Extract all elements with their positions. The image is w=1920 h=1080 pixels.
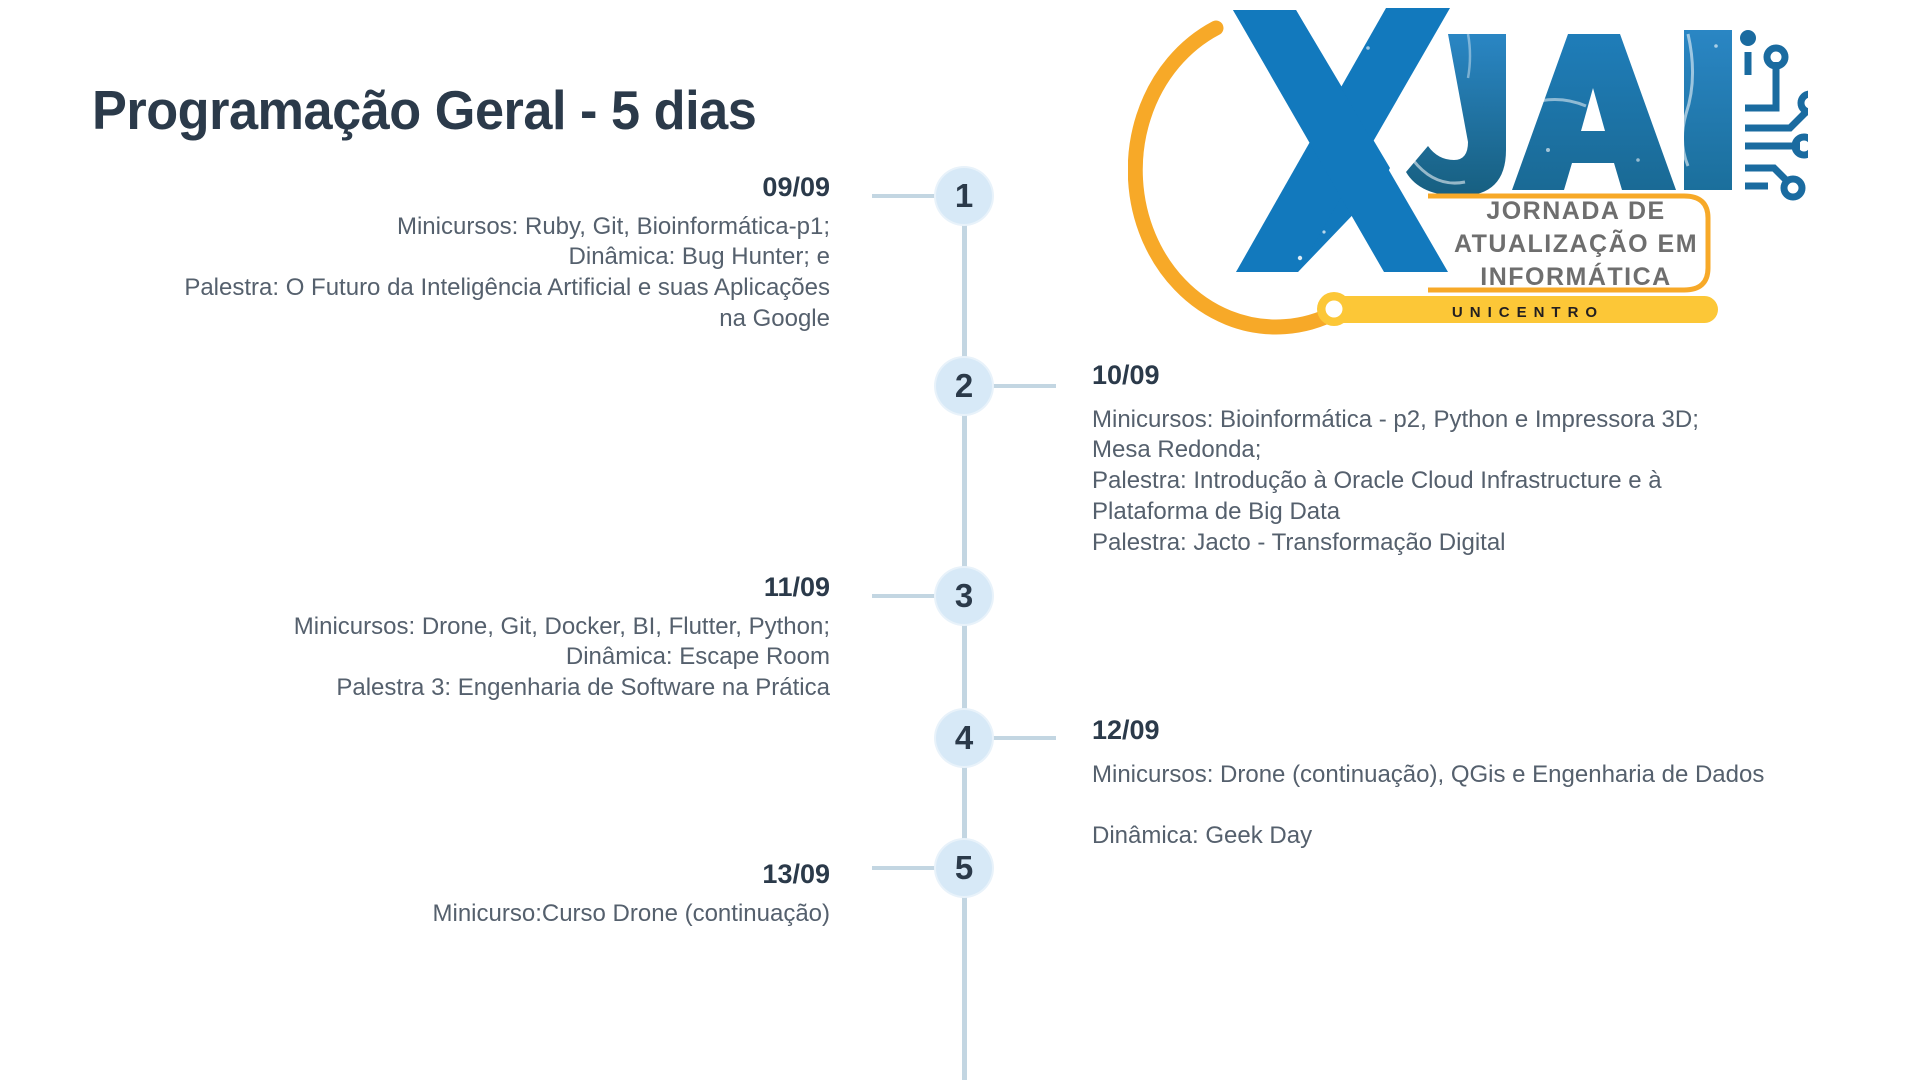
timeline-node-number: 2 xyxy=(955,367,973,405)
timeline-entry-3: 11/09Minicursos: Drone, Git, Docker, BI,… xyxy=(20,573,830,704)
timeline-node-5[interactable]: 5 xyxy=(936,840,992,896)
logo-subtitle-line3: INFORMÁTICA xyxy=(1480,262,1671,291)
logo-letter-i xyxy=(1682,30,1732,190)
timeline-connector-1 xyxy=(872,194,936,198)
entry-body: Minicursos: Bioinformática - p2, Python … xyxy=(1092,405,1902,559)
logo-letter-a xyxy=(1512,34,1676,190)
timeline-node-number: 4 xyxy=(955,719,973,757)
timeline-entry-4: 12/09Minicursos: Drone (continuação), QG… xyxy=(1092,716,1902,852)
timeline-node-4[interactable]: 4 xyxy=(936,710,992,766)
entry-body: Minicursos: Drone (continuação), QGis e … xyxy=(1092,760,1902,852)
entry-date: 10/09 xyxy=(1092,361,1902,391)
timeline-node-2[interactable]: 2 xyxy=(936,358,992,414)
page-title: Programação Geral - 5 dias xyxy=(92,78,756,142)
entry-date: 13/09 xyxy=(20,860,830,890)
timeline-connector-3 xyxy=(872,594,936,598)
logo-subtitle-line2: ATUALIZAÇÃO EM xyxy=(1454,228,1698,258)
circuit-icon xyxy=(1745,52,1808,186)
timeline-node-1[interactable]: 1 xyxy=(936,168,992,224)
timeline-node-number: 3 xyxy=(955,577,973,615)
logo-subtitle-line1: JORNADA DE xyxy=(1486,197,1665,225)
timeline-spine xyxy=(962,186,967,1080)
timeline-connector-5 xyxy=(872,866,936,870)
entry-body: Minicurso:Curso Drone (continuação) xyxy=(20,899,830,930)
timeline-node-3[interactable]: 3 xyxy=(936,568,992,624)
timeline-connector-2 xyxy=(992,384,1056,388)
entry-date: 09/09 xyxy=(20,173,830,203)
timeline-entry-5: 13/09Minicurso:Curso Drone (continuação) xyxy=(20,860,830,929)
timeline-node-number: 1 xyxy=(955,177,973,215)
entry-date: 11/09 xyxy=(20,573,830,603)
logo-unicentro-text: UNICENTRO xyxy=(1452,304,1604,321)
timeline-entry-1: 09/09Minicursos: Ruby, Git, Bioinformáti… xyxy=(20,173,830,335)
entry-body: Minicursos: Drone, Git, Docker, BI, Flut… xyxy=(20,612,830,704)
jai-logo: UNICENTRO xyxy=(1128,0,1808,345)
timeline-node-number: 5 xyxy=(955,849,973,887)
logo-letter-x xyxy=(1233,8,1450,272)
entry-body: Minicursos: Ruby, Git, Bioinformática-p1… xyxy=(20,212,830,335)
timeline-entry-2: 10/09Minicursos: Bioinformática - p2, Py… xyxy=(1092,361,1902,558)
entry-date: 12/09 xyxy=(1092,716,1902,746)
timeline-connector-4 xyxy=(992,736,1056,740)
